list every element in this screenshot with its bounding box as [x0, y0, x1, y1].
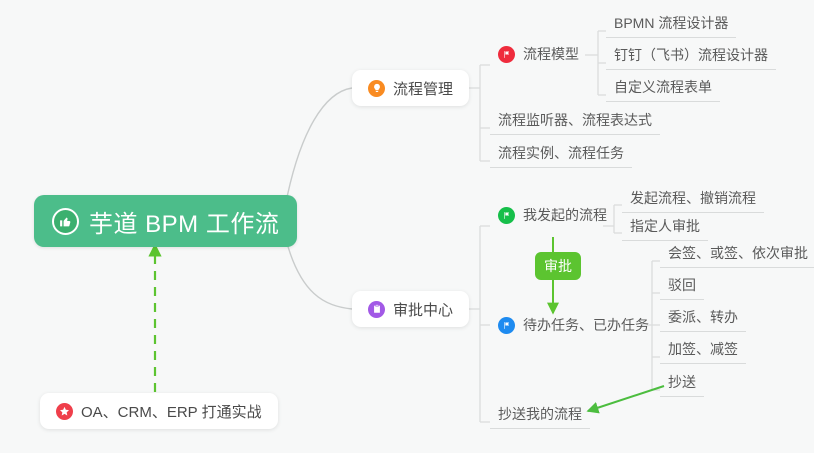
branch-approval-center[interactable]: 审批中心 — [352, 291, 469, 327]
leaf-delegate-transfer-label: 委派、转办 — [668, 307, 738, 327]
branch-process-management-label: 流程管理 — [393, 78, 453, 99]
leaf-delegate-transfer[interactable]: 委派、转办 — [660, 302, 746, 332]
leaf-countersign-label: 会签、或签、依次审批 — [668, 243, 808, 263]
leaf-instance-task-label: 流程实例、流程任务 — [498, 143, 624, 163]
node-process-model-label: 流程模型 — [523, 44, 579, 64]
clipboard-icon — [368, 301, 385, 318]
lightbulb-icon — [368, 80, 385, 97]
node-todo-done-tasks-label: 待办任务、已办任务 — [523, 315, 649, 335]
flag-icon — [498, 46, 515, 63]
leaf-countersign[interactable]: 会签、或签、依次审批 — [660, 238, 814, 268]
approval-tag-label: 审批 — [544, 256, 572, 276]
leaf-cc[interactable]: 抄送 — [660, 367, 704, 397]
leaf-cc-my-process[interactable]: 抄送我的流程 — [490, 399, 590, 429]
leaf-reject-label: 驳回 — [668, 275, 696, 295]
leaf-assignee-approval[interactable]: 指定人审批 — [622, 211, 708, 241]
leaf-start-cancel-process[interactable]: 发起流程、撤销流程 — [622, 183, 764, 213]
node-my-started-process[interactable]: 我发起的流程 — [490, 200, 615, 230]
leaf-bpmn-designer-label: BPMN 流程设计器 — [614, 13, 728, 33]
arrow-cc-to-cc-my-process — [588, 386, 664, 411]
flag-icon — [498, 207, 515, 224]
mindmap-canvas: 芋道 BPM 工作流 OA、CRM、ERP 打通实战 流程管理 流程模型 BPM… — [0, 0, 814, 453]
leaf-listener-expression[interactable]: 流程监听器、流程表达式 — [490, 105, 660, 135]
link-root-to-process-management — [285, 88, 352, 207]
node-todo-done-tasks[interactable]: 待办任务、已办任务 — [490, 310, 657, 340]
leaf-cc-my-process-label: 抄送我的流程 — [498, 404, 582, 424]
flag-icon — [498, 317, 515, 334]
leaf-bpmn-designer[interactable]: BPMN 流程设计器 — [606, 8, 736, 38]
thumbs-up-icon — [52, 208, 79, 235]
leaf-dingtalk-designer[interactable]: 钉钉（飞书）流程设计器 — [606, 40, 776, 70]
footnote-node[interactable]: OA、CRM、ERP 打通实战 — [40, 393, 278, 429]
leaf-dingtalk-designer-label: 钉钉（飞书）流程设计器 — [614, 45, 768, 65]
star-icon — [56, 403, 73, 420]
leaf-listener-expression-label: 流程监听器、流程表达式 — [498, 110, 652, 130]
link-root-to-approval-center — [285, 236, 352, 309]
leaf-add-remove-sign-label: 加签、减签 — [668, 339, 738, 359]
branch-approval-center-label: 审批中心 — [393, 299, 453, 320]
leaf-custom-form[interactable]: 自定义流程表单 — [606, 72, 720, 102]
footnote-label: OA、CRM、ERP 打通实战 — [81, 401, 262, 422]
leaf-instance-task[interactable]: 流程实例、流程任务 — [490, 138, 632, 168]
node-my-started-process-label: 我发起的流程 — [523, 205, 607, 225]
leaf-add-remove-sign[interactable]: 加签、减签 — [660, 334, 746, 364]
leaf-cc-label: 抄送 — [668, 372, 696, 392]
root-node[interactable]: 芋道 BPM 工作流 — [34, 195, 297, 247]
root-label: 芋道 BPM 工作流 — [89, 204, 279, 239]
branch-process-management[interactable]: 流程管理 — [352, 70, 469, 106]
leaf-custom-form-label: 自定义流程表单 — [614, 77, 712, 97]
leaf-assignee-approval-label: 指定人审批 — [630, 216, 700, 236]
leaf-start-cancel-process-label: 发起流程、撤销流程 — [630, 188, 756, 208]
leaf-reject[interactable]: 驳回 — [660, 270, 704, 300]
approval-tag: 审批 — [535, 252, 581, 280]
node-process-model[interactable]: 流程模型 — [490, 39, 587, 69]
